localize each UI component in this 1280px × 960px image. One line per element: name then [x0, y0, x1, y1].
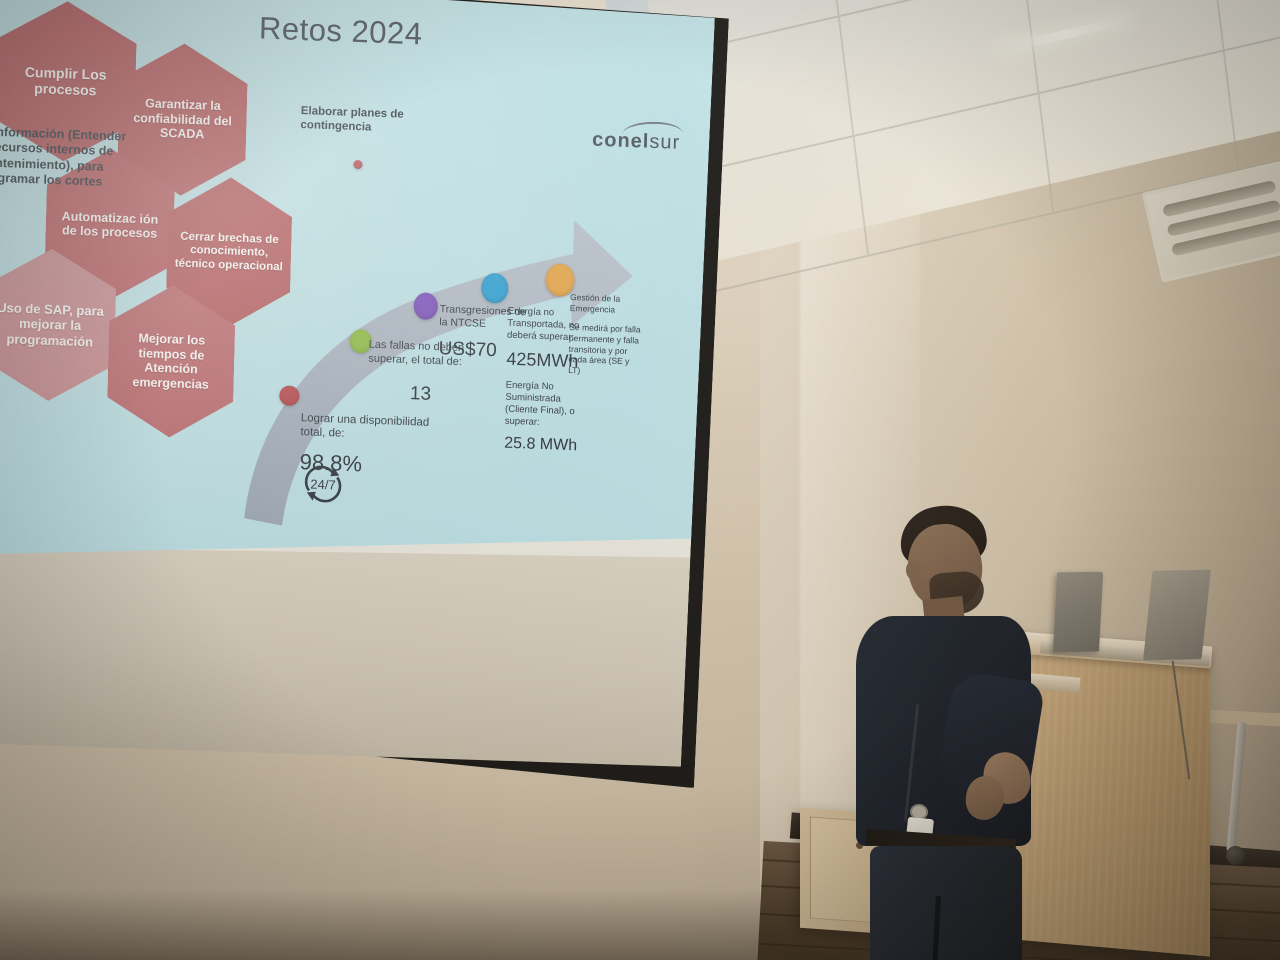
- hexagon-label: Garantizar la confiabilidad del SCADA: [126, 96, 239, 144]
- presenter-ear: [906, 560, 922, 580]
- projection-screen: Retos 2024 conelsur Cumplir Los procesos…: [0, 0, 748, 799]
- photo-scene: Retos 2024 conelsur Cumplir Los procesos…: [0, 0, 1280, 960]
- metric-value-secondary: 25.8 MWh: [504, 433, 590, 456]
- hexagon-label: Cumplir Los procesos: [3, 63, 128, 100]
- folding-table-caster: [1226, 846, 1245, 865]
- metric-label: Gestión de la Emergencia: [570, 292, 645, 316]
- metric-gestion-emergencia: Gestión de la Emergencia Se medirá por f…: [568, 292, 644, 378]
- laptop-on-podium[interactable]: [1053, 572, 1103, 653]
- 24-7-icon: 24/7: [299, 460, 348, 508]
- hexagon-label: Uso de SAP, para mejorar la programación: [0, 300, 108, 349]
- second-laptop[interactable]: [1143, 570, 1211, 661]
- hexagon-label: Automatizac ión de los procesos: [53, 208, 166, 241]
- slide-canvas: Retos 2024 conelsur Cumplir Los procesos…: [0, 0, 716, 612]
- screen-blank-lower-area: [0, 525, 690, 776]
- hexagon-label: Mejorar los tiempos de Atención emergenc…: [116, 330, 227, 392]
- metric-label-secondary: Energía No Suministrada (Cliente Final),…: [505, 380, 592, 431]
- metric-label: Lograr una disponibilidad total, de:: [300, 411, 451, 445]
- svg-text:24/7: 24/7: [310, 477, 336, 493]
- note-elaborar-planes: Elaborar planes de contingencia: [300, 104, 421, 136]
- metric-value: 13: [367, 380, 474, 408]
- projected-slide-area: Retos 2024 conelsur Cumplir Los procesos…: [0, 0, 716, 612]
- note-mejor-informacion: Mejor Información (Entender los recursos…: [0, 123, 132, 191]
- dot-contingencia: [353, 160, 362, 169]
- logo-swoosh-icon: [622, 121, 682, 136]
- slide-page-number: 11: [704, 609, 716, 612]
- presenter-legs: [870, 846, 1022, 960]
- slide-title: Retos 2024: [259, 10, 423, 52]
- presenter: [848, 498, 1058, 960]
- metric-label-secondary: Se medirá por falla permanente y falla t…: [568, 322, 643, 378]
- conelsur-logo: conelsur: [592, 129, 681, 155]
